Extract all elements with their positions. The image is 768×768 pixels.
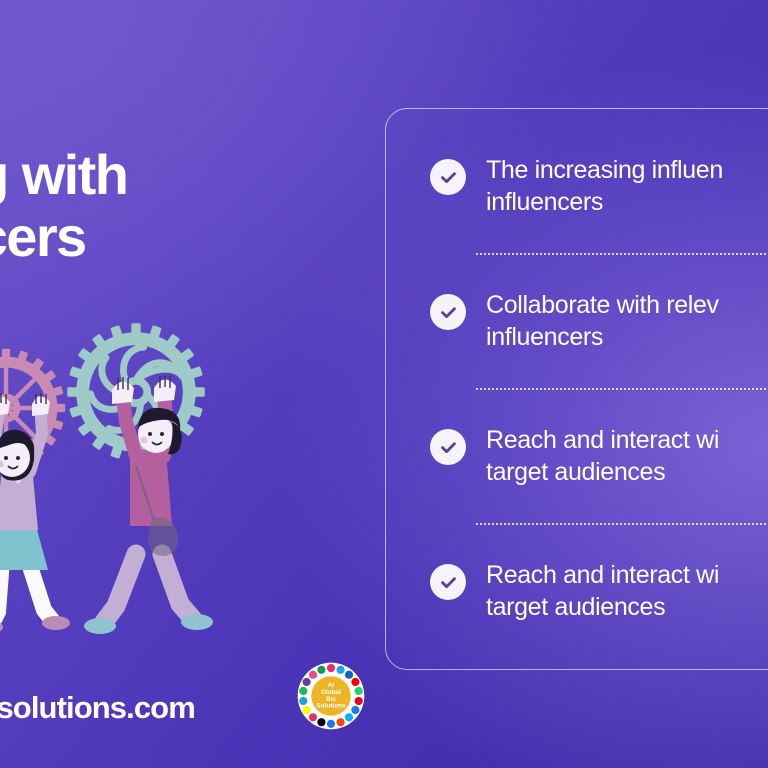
page-title-line-2: uencers	[0, 210, 352, 264]
list-item-label: The increasing influen influencers	[486, 155, 723, 218]
check-circle-icon	[430, 159, 466, 195]
checklist-panel: The increasing influen influencers Colla…	[385, 108, 768, 670]
list-item[interactable]: Collaborate with relev influencers	[430, 290, 768, 353]
list-item[interactable]: The increasing influen influencers	[430, 155, 768, 218]
badge-line-1: AI	[328, 682, 335, 689]
website-url[interactable]: balbizsolutions.com	[0, 690, 195, 726]
list-divider	[476, 253, 768, 255]
page-title: eting with uencers	[0, 148, 352, 265]
badge-line-3: Biz	[326, 696, 336, 703]
list-item-label: Reach and interact wi target audiences	[486, 560, 719, 623]
list-item[interactable]: Reach and interact wi target audiences	[430, 560, 768, 623]
poster-canvas: eting with uencers	[0, 0, 768, 768]
check-circle-icon	[430, 294, 466, 330]
page-title-line-1: eting with	[0, 148, 352, 202]
list-item-label: Collaborate with relev influencers	[486, 290, 719, 353]
brand-logo-badge[interactable]: AI Global Biz Solutions	[297, 662, 365, 730]
list-item-label: Reach and interact wi target audiences	[486, 425, 719, 488]
check-circle-icon	[430, 429, 466, 465]
list-divider	[476, 523, 768, 525]
two-people-lifting-gears-illustration	[0, 330, 270, 650]
list-item[interactable]: Reach and interact wi target audiences	[430, 425, 768, 488]
check-circle-icon	[430, 564, 466, 600]
list-divider	[476, 388, 768, 390]
badge-line-2: Global	[321, 689, 341, 696]
badge-line-4: Solutions	[316, 703, 346, 710]
